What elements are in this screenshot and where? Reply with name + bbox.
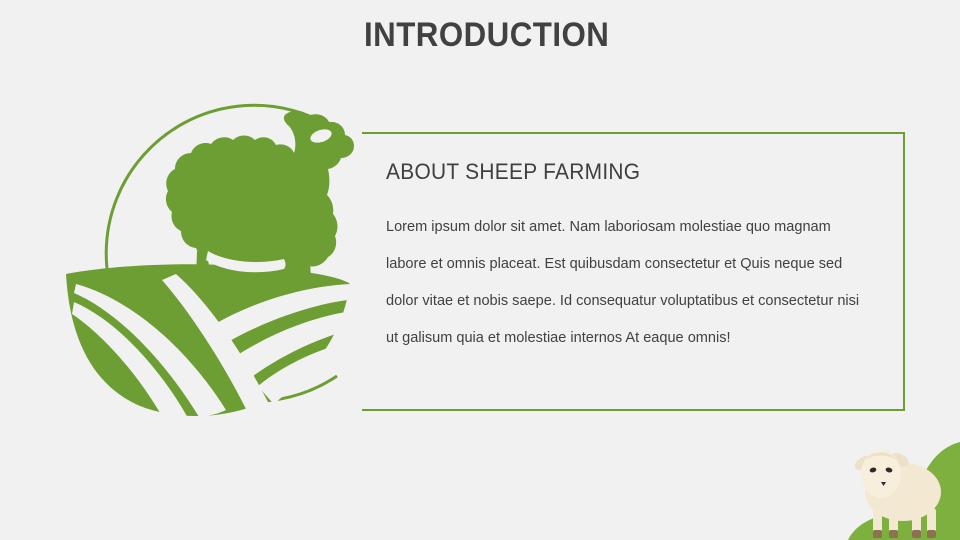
about-card: ABOUT SHEEP FARMING Lorem ipsum dolor si… — [362, 132, 905, 411]
sheep-farm-logo-graphic — [58, 88, 358, 418]
corner-sheep-body — [865, 463, 941, 521]
page-title: INTRODUCTION — [364, 17, 609, 54]
sheep-farm-logo — [58, 88, 358, 418]
logo-fields — [66, 264, 350, 418]
corner-sheep-illustration — [840, 420, 960, 540]
card-heading: ABOUT SHEEP FARMING — [386, 159, 640, 185]
logo-sheep-silhouette — [166, 111, 354, 287]
card-body-text: Lorem ipsum dolor sit amet. Nam laborios… — [386, 208, 869, 356]
slide-root: INTRODUCTION — [0, 0, 960, 540]
corner-sheep-eye-right — [885, 467, 893, 473]
corner-sheep-graphic — [840, 420, 960, 540]
corner-sheep-head — [861, 450, 901, 498]
corner-sheep-eye-left — [869, 467, 877, 473]
corner-hill — [848, 442, 960, 540]
corner-sheep-nose — [881, 482, 886, 486]
